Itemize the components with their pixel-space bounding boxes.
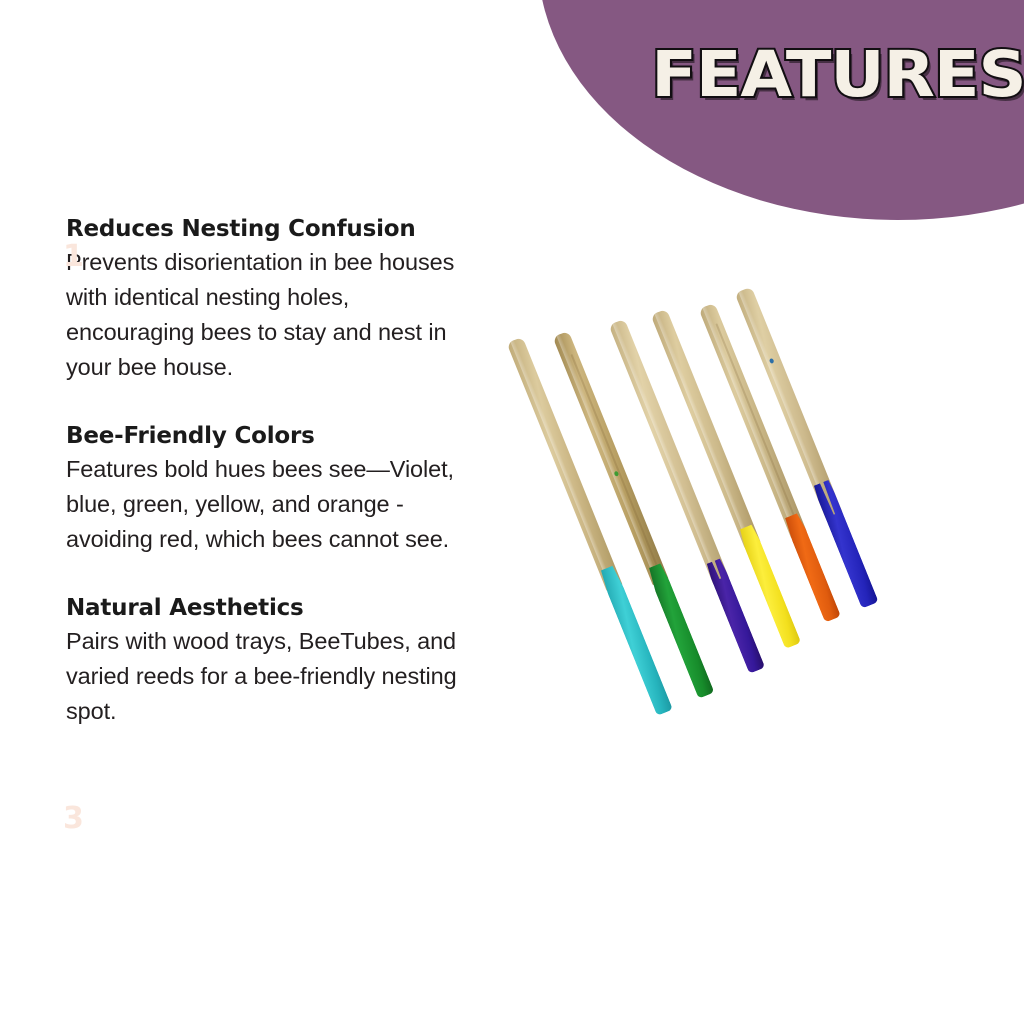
wood-sheen: [510, 340, 614, 590]
feature-block: Reduces Nesting Confusion Prevents disor…: [66, 214, 476, 385]
feature-body: Prevents disorientation in bee houses wi…: [66, 245, 476, 385]
feature-title: Natural Aesthetics: [66, 593, 476, 624]
wood-sheen: [612, 322, 721, 583]
feature-block: Natural Aesthetics Pairs with wood trays…: [66, 593, 476, 729]
feature-title: Bee-Friendly Colors: [66, 421, 476, 452]
feature-title: Reduces Nesting Confusion: [66, 214, 476, 245]
features-list: Reduces Nesting Confusion Prevents disor…: [66, 214, 476, 765]
feature-body: Pairs with wood trays, BeeTubes, and var…: [66, 624, 476, 729]
feature-body: Features bold hues bees see—Violet, blue…: [66, 452, 476, 557]
page-title: FEATURES: [637, 40, 1024, 110]
ghost-number-three: 3: [63, 804, 84, 834]
product-photo-nesting-sticks: [480, 270, 1024, 780]
wood-sheen: [702, 306, 799, 537]
feature-block: Bee-Friendly Colors Features bold hues b…: [66, 421, 476, 557]
features-slide: FEATURES Reduces Nesting Confusion Preve…: [0, 0, 1024, 1024]
